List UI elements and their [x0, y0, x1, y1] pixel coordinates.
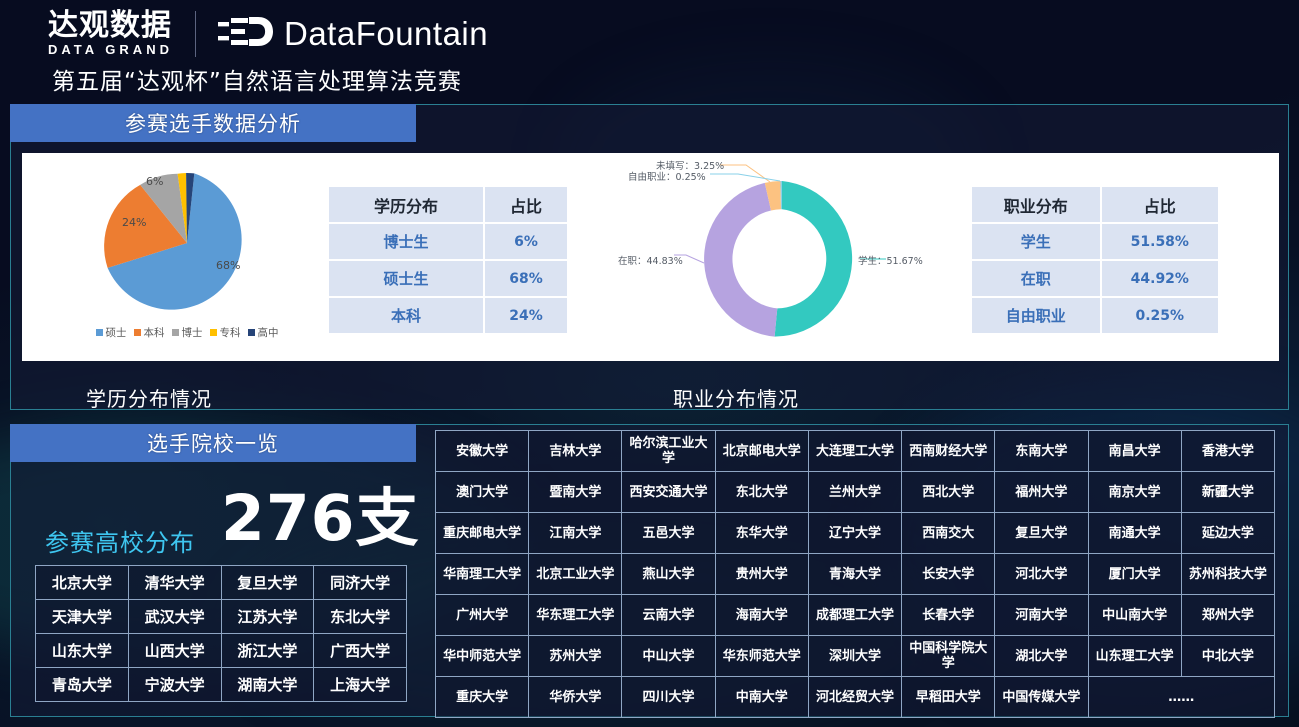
job-header-category: 职业分布 — [971, 186, 1101, 223]
university-cell: 宁波大学 — [128, 668, 221, 702]
university-cell: 华东理工大学 — [529, 595, 622, 636]
university-cell: 复旦大学 — [221, 566, 314, 600]
datafountain-logo-text: DataFountain — [284, 15, 488, 53]
university-cell: 重庆大学 — [436, 677, 529, 718]
university-cell: 上海大学 — [314, 668, 407, 702]
pie-label-bachelor: 24% — [122, 216, 146, 229]
university-cell: 河北大学 — [995, 554, 1088, 595]
logo-row: 达观数据 DATA GRAND DataFountain — [48, 8, 488, 60]
university-cell: 重庆邮电大学 — [436, 513, 529, 554]
table-row: 在职 44.92% — [971, 260, 1219, 297]
university-cell: 中北大学 — [1181, 636, 1274, 677]
job-row-label: 学生 — [971, 223, 1101, 260]
edu-row-value: 6% — [484, 223, 568, 260]
university-cell: 郑州大学 — [1181, 595, 1274, 636]
legend-item: 专科 — [210, 325, 241, 340]
featured-university-table: 北京大学清华大学复旦大学同济大学天津大学武汉大学江苏大学东北大学山东大学山西大学… — [35, 565, 407, 702]
university-cell: 清华大学 — [128, 566, 221, 600]
panel-banner-top-label: 参赛选手数据分析 — [125, 108, 301, 138]
edu-header-percent: 占比 — [484, 186, 568, 223]
datagrand-logo-en: DATA GRAND — [48, 42, 173, 58]
table-row: 硕士生 68% — [328, 260, 568, 297]
legend-swatch-doctor — [172, 329, 179, 336]
table-row: 重庆大学华侨大学四川大学中南大学河北经贸大学早稻田大学中国传媒大学…… — [436, 677, 1275, 718]
university-cell: 中山大学 — [622, 636, 715, 677]
university-cell: 厦门大学 — [1088, 554, 1181, 595]
university-cell: 东北大学 — [314, 600, 407, 634]
datagrand-logo-cn: 达观数据 — [48, 10, 173, 42]
table-row: 安徽大学吉林大学哈尔滨工业大学北京邮电大学大连理工大学西南财经大学东南大学南昌大… — [436, 431, 1275, 472]
university-cell: 北京工业大学 — [529, 554, 622, 595]
university-cell: 中南大学 — [715, 677, 808, 718]
university-cell: 辽宁大学 — [808, 513, 901, 554]
university-cell: 天津大学 — [36, 600, 129, 634]
table-row: 学生 51.58% — [971, 223, 1219, 260]
edu-header-category: 学历分布 — [328, 186, 484, 223]
occupation-chart-caption: 职业分布情况 — [673, 383, 799, 412]
university-cell: 吉林大学 — [529, 431, 622, 472]
table-row: 重庆邮电大学江南大学五邑大学东华大学辽宁大学西南交大复旦大学南通大学延边大学 — [436, 513, 1275, 554]
legend-item: 高中 — [248, 325, 279, 340]
university-cell: …… — [1088, 677, 1274, 718]
logo-divider — [195, 11, 196, 57]
university-cell: 湖南大学 — [221, 668, 314, 702]
panel-banner-bottom: 选手院校一览 — [10, 424, 416, 462]
table-header-row: 学历分布 占比 — [328, 186, 568, 223]
university-cell: 东北大学 — [715, 472, 808, 513]
university-cell: 华南理工大学 — [436, 554, 529, 595]
job-row-value: 0.25% — [1101, 297, 1219, 334]
table-row: 华南理工大学北京工业大学燕山大学贵州大学青海大学长安大学河北大学厦门大学苏州科技… — [436, 554, 1275, 595]
table-row: 广州大学华东理工大学云南大学海南大学成都理工大学长春大学河南大学中山南大学郑州大… — [436, 595, 1275, 636]
university-cell: 山东大学 — [36, 634, 129, 668]
university-cell: 四川大学 — [622, 677, 715, 718]
university-cell: 苏州科技大学 — [1181, 554, 1274, 595]
education-chart-caption: 学历分布情况 — [86, 383, 212, 412]
donut-label-employed: 在职：44.83% — [618, 253, 683, 267]
university-cell: 青海大学 — [808, 554, 901, 595]
legend-label-highschool: 高中 — [258, 325, 279, 340]
university-count-row: 参赛高校分布 276支 — [39, 487, 429, 567]
university-cell: 广州大学 — [436, 595, 529, 636]
education-pie-legend: 硕士 本科 博士 专科 高中 — [42, 325, 332, 340]
university-cell: 长安大学 — [902, 554, 995, 595]
university-cell: 河北经贸大学 — [808, 677, 901, 718]
competition-subtitle: 第五届“达观杯”自然语言处理算法竞赛 — [52, 62, 462, 96]
university-cell: 长春大学 — [902, 595, 995, 636]
panel-banner-top: 参赛选手数据分析 — [10, 104, 416, 142]
university-cell: 暨南大学 — [529, 472, 622, 513]
university-cell: 华中师范大学 — [436, 636, 529, 677]
university-cell: 哈尔滨工业大学 — [622, 431, 715, 472]
university-cell: 西北大学 — [902, 472, 995, 513]
university-cell: 华侨大学 — [529, 677, 622, 718]
job-row-value: 44.92% — [1101, 260, 1219, 297]
education-distribution-table: 学历分布 占比 博士生 6% 硕士生 68% 本科 24% — [327, 185, 569, 335]
player-data-analysis-panel: 参赛选手数据分析 68% 24% 6% — [10, 104, 1289, 410]
university-count-value: 276支 — [221, 477, 420, 561]
datagrand-logo: 达观数据 DATA GRAND — [48, 10, 173, 58]
university-cell: 同济大学 — [314, 566, 407, 600]
job-row-label: 在职 — [971, 260, 1101, 297]
datafountain-logo: DataFountain — [218, 15, 488, 54]
university-cell: 安徽大学 — [436, 431, 529, 472]
table-header-row: 职业分布 占比 — [971, 186, 1219, 223]
table-row: 北京大学清华大学复旦大学同济大学 — [36, 566, 407, 600]
legend-swatch-bachelor — [134, 329, 141, 336]
university-cell: 兰州大学 — [808, 472, 901, 513]
university-cell: 西安交通大学 — [622, 472, 715, 513]
university-cell: 湖北大学 — [995, 636, 1088, 677]
table-row: 青岛大学宁波大学湖南大学上海大学 — [36, 668, 407, 702]
university-cell: 江南大学 — [529, 513, 622, 554]
slide-canvas: 达观数据 DATA GRAND DataFountain — [0, 0, 1299, 727]
table-row: 天津大学武汉大学江苏大学东北大学 — [36, 600, 407, 634]
university-cell: 海南大学 — [715, 595, 808, 636]
edu-row-label: 本科 — [328, 297, 484, 334]
university-cell: 延边大学 — [1181, 513, 1274, 554]
university-cell: 复旦大学 — [995, 513, 1088, 554]
all-university-table: 安徽大学吉林大学哈尔滨工业大学北京邮电大学大连理工大学西南财经大学东南大学南昌大… — [435, 430, 1275, 718]
legend-item: 本科 — [134, 325, 165, 340]
university-cell: 山西大学 — [128, 634, 221, 668]
table-row: 自由职业 0.25% — [971, 297, 1219, 334]
university-cell: 大连理工大学 — [808, 431, 901, 472]
legend-swatch-master — [96, 329, 103, 336]
university-cell: 南通大学 — [1088, 513, 1181, 554]
university-cell: 云南大学 — [622, 595, 715, 636]
university-cell: 西南交大 — [902, 513, 995, 554]
legend-item: 硕士 — [96, 325, 127, 340]
edu-row-value: 24% — [484, 297, 568, 334]
legend-label-college: 专科 — [220, 325, 241, 340]
university-cell: 早稻田大学 — [902, 677, 995, 718]
university-cell: 深圳大学 — [808, 636, 901, 677]
university-cell: 苏州大学 — [529, 636, 622, 677]
university-cell: 南昌大学 — [1088, 431, 1181, 472]
panel-banner-bottom-label: 选手院校一览 — [147, 428, 279, 458]
table-row: 博士生 6% — [328, 223, 568, 260]
job-row-value: 51.58% — [1101, 223, 1219, 260]
legend-label-bachelor: 本科 — [144, 325, 165, 340]
university-cell: 福州大学 — [995, 472, 1088, 513]
legend-swatch-college — [210, 329, 217, 336]
legend-label-master: 硕士 — [106, 325, 127, 340]
datafountain-mark-icon — [218, 15, 274, 54]
university-cell: 新疆大学 — [1181, 472, 1274, 513]
university-cell: 北京邮电大学 — [715, 431, 808, 472]
university-cell: 香港大学 — [1181, 431, 1274, 472]
edu-row-label: 硕士生 — [328, 260, 484, 297]
pie-label-doctor: 6% — [146, 175, 163, 188]
university-cell: 浙江大学 — [221, 634, 314, 668]
university-cell: 青岛大学 — [36, 668, 129, 702]
university-cell: 江苏大学 — [221, 600, 314, 634]
table-row: 山东大学山西大学浙江大学广西大学 — [36, 634, 407, 668]
university-cell: 东华大学 — [715, 513, 808, 554]
occupation-distribution-table: 职业分布 占比 学生 51.58% 在职 44.92% 自由职业 0.25% — [970, 185, 1220, 335]
university-cell: 五邑大学 — [622, 513, 715, 554]
table-row: 华中师范大学苏州大学中山大学华东师范大学深圳大学中国科学院大学湖北大学山东理工大… — [436, 636, 1275, 677]
university-cell: 武汉大学 — [128, 600, 221, 634]
university-cell: 广西大学 — [314, 634, 407, 668]
legend-item: 博士 — [172, 325, 203, 340]
university-cell: 燕山大学 — [622, 554, 715, 595]
university-cell: 贵州大学 — [715, 554, 808, 595]
university-cell: 西南财经大学 — [902, 431, 995, 472]
edu-row-value: 68% — [484, 260, 568, 297]
university-cell: 中国科学院大学 — [902, 636, 995, 677]
donut-label-student: 学生：51.67% — [858, 253, 923, 267]
job-header-percent: 占比 — [1101, 186, 1219, 223]
university-cell: 东南大学 — [995, 431, 1088, 472]
donut-label-freelance: 自由职业：0.25% — [628, 169, 706, 183]
edu-row-label: 博士生 — [328, 223, 484, 260]
university-list-panel: 选手院校一览 参赛高校分布 276支 北京大学清华大学复旦大学同济大学天津大学武… — [10, 424, 1289, 717]
legend-swatch-highschool — [248, 329, 255, 336]
job-row-label: 自由职业 — [971, 297, 1101, 334]
university-cell: 华东师范大学 — [715, 636, 808, 677]
legend-label-doctor: 博士 — [182, 325, 203, 340]
occupation-donut-chart: 学生：51.67% 在职：44.83% 未填写：3.25% 自由职业：0.25% — [612, 155, 952, 359]
university-cell: 成都理工大学 — [808, 595, 901, 636]
university-count-label: 参赛高校分布 — [45, 523, 195, 558]
table-row: 本科 24% — [328, 297, 568, 334]
slide-header: 达观数据 DATA GRAND DataFountain — [0, 0, 1299, 100]
university-cell: 南京大学 — [1088, 472, 1181, 513]
university-cell: 中国传媒大学 — [995, 677, 1088, 718]
university-cell: 河南大学 — [995, 595, 1088, 636]
charts-card: 68% 24% 6% 硕士 本科 博士 专科 高中 学历分布 占比 博士生 — [22, 153, 1279, 361]
university-cell: 中山南大学 — [1088, 595, 1181, 636]
pie-label-master: 68% — [216, 259, 240, 272]
university-cell: 山东理工大学 — [1088, 636, 1181, 677]
table-row: 澳门大学暨南大学西安交通大学东北大学兰州大学西北大学福州大学南京大学新疆大学 — [436, 472, 1275, 513]
university-cell: 澳门大学 — [436, 472, 529, 513]
university-cell: 北京大学 — [36, 566, 129, 600]
